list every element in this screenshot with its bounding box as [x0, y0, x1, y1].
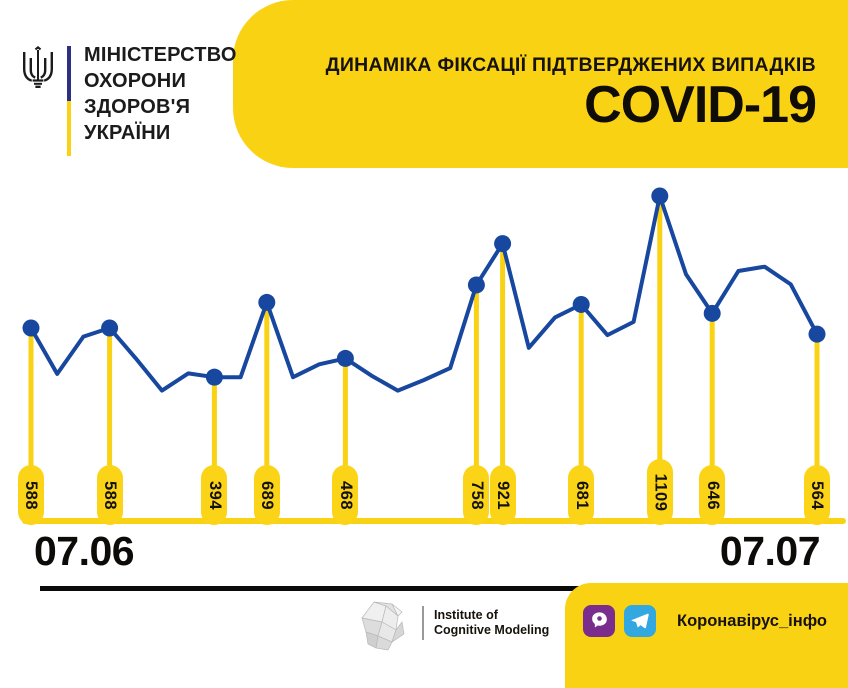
chart-marker[interactable] — [101, 320, 118, 337]
chart-value-label: 1109 — [647, 459, 673, 525]
logo-divider-bar — [67, 46, 71, 156]
ministry-line-3: ЗДОРОВ'Я — [84, 94, 237, 120]
chart-value-label-text: 646 — [703, 480, 722, 509]
chart-value-label-text: 588 — [100, 480, 119, 509]
ministry-name: МІНІСТЕРСТВО ОХОРОНИ ЗДОРОВ'Я УКРАЇНИ — [84, 42, 237, 146]
institute-credit: Institute of Cognitive Modeling — [352, 592, 549, 654]
chart-value-label-text: 758 — [467, 480, 486, 509]
institute-line-2: Cognitive Modeling — [434, 623, 549, 638]
chart-line-series — [31, 196, 817, 391]
covid-line-chart: 5885883946894687589216811109646564 — [0, 168, 848, 540]
chart-marker[interactable] — [468, 276, 485, 293]
header-subtitle: ДИНАМІКА ФІКСАЦІЇ ПІДТВЕРДЖЕНИХ ВИПАДКІВ — [326, 54, 816, 77]
chart-marker[interactable] — [809, 326, 826, 343]
chart-marker[interactable] — [206, 369, 223, 386]
ministry-line-4: УКРАЇНИ — [84, 120, 237, 146]
institute-name: Institute of Cognitive Modeling — [434, 608, 549, 638]
header-title: COVID-19 — [584, 78, 816, 133]
viber-icon[interactable] — [583, 605, 615, 637]
axis-end-date: 07.07 — [720, 528, 820, 575]
chart-marker[interactable] — [337, 350, 354, 367]
chart-value-label-text: 468 — [336, 480, 355, 509]
chart-marker[interactable] — [258, 294, 275, 311]
chart-value-label: 588 — [97, 465, 123, 525]
ministry-logo-block: МІНІСТЕРСТВО ОХОРОНИ ЗДОРОВ'Я УКРАЇНИ — [18, 42, 237, 156]
chart-value-label-text: 588 — [22, 480, 41, 509]
ministry-line-1: МІНІСТЕРСТВО — [84, 42, 237, 68]
header-panel: ДИНАМІКА ФІКСАЦІЇ ПІДТВЕРДЖЕНИХ ВИПАДКІВ… — [233, 0, 848, 168]
elephant-logo — [352, 592, 414, 654]
infographic-page: ДИНАМІКА ФІКСАЦІЇ ПІДТВЕРДЖЕНИХ ВИПАДКІВ… — [0, 0, 848, 688]
ukraine-trident-icon — [18, 46, 58, 92]
chart-marker[interactable] — [494, 235, 511, 252]
chart-value-label: 588 — [18, 465, 44, 525]
chart-value-label-text: 921 — [493, 480, 512, 509]
chart-markers — [23, 188, 826, 386]
chart-value-label: 468 — [332, 465, 358, 525]
chart-marker[interactable] — [23, 320, 40, 337]
social-badge-content: Коронавірус_інфо — [583, 605, 827, 637]
chart-value-label: 758 — [463, 465, 489, 525]
axis-start-date: 07.06 — [34, 528, 134, 575]
chart-marker[interactable] — [573, 296, 590, 313]
chart-value-label-text: 564 — [808, 480, 827, 509]
chart-value-label-text: 394 — [205, 480, 224, 509]
social-badge-label: Коронавірус_інфо — [677, 612, 827, 631]
telegram-icon[interactable] — [624, 605, 656, 637]
chart-value-label-text: 681 — [572, 480, 591, 509]
chart-value-label: 681 — [568, 465, 594, 525]
chart-marker[interactable] — [651, 188, 668, 205]
chart-value-label: 394 — [201, 465, 227, 525]
social-badge-panel: Коронавірус_інфо — [565, 583, 848, 688]
chart-value-label-text: 1109 — [650, 473, 669, 511]
institute-line-1: Institute of — [434, 608, 549, 623]
chart-value-label-text: 689 — [257, 480, 276, 509]
chart-value-label: 921 — [490, 465, 516, 525]
institute-separator — [422, 606, 424, 640]
chart-value-label: 564 — [804, 465, 830, 525]
ministry-line-2: ОХОРОНИ — [84, 68, 237, 94]
chart-marker[interactable] — [704, 305, 721, 322]
chart-value-label: 646 — [699, 465, 725, 525]
chart-value-label: 689 — [254, 465, 280, 525]
